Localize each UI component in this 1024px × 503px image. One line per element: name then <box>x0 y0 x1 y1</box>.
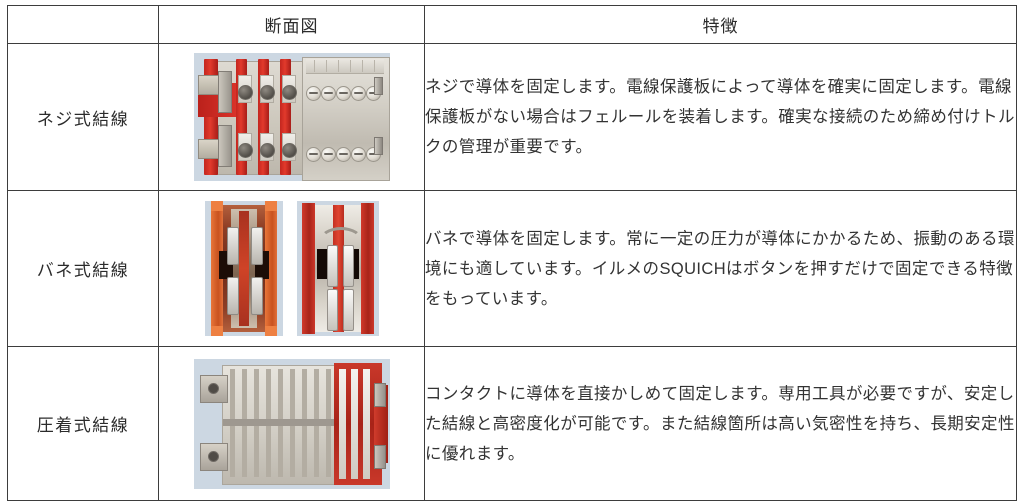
screw-head-shape <box>238 143 253 158</box>
crimp-contact-shape <box>363 369 370 479</box>
screw-head-shape <box>282 143 297 158</box>
header-cell-blank <box>8 6 159 44</box>
table-row: 圧着式結線 <box>8 347 1017 501</box>
orange-tab-shape <box>265 201 277 211</box>
connector-cap-shape <box>306 59 384 74</box>
mounting-bracket-shape <box>218 125 232 167</box>
side-rail-shape <box>374 445 386 469</box>
header-cell-features: 特徴 <box>425 6 1017 44</box>
screw-head-shape <box>351 86 366 101</box>
spring-clamp-shape <box>251 227 263 265</box>
spring-type-red-terminal-photo <box>297 201 379 336</box>
screw-head-shape <box>336 147 351 162</box>
row-image-cell-crimp <box>159 347 425 501</box>
spring-type-orange-terminal-photo <box>205 201 283 336</box>
spring-clamp-shape <box>327 245 338 287</box>
row-description-cell-screw: ネジで導体を固定します。電線保護板によって導体を確実に固定します。電線保護板がな… <box>425 44 1017 191</box>
orange-tab-shape <box>211 326 223 336</box>
cap-slot-shape <box>338 60 339 72</box>
mounting-stud-shape <box>374 137 383 155</box>
table-body: ネジ式結線 <box>8 44 1017 501</box>
mounting-stud-shape <box>374 77 383 95</box>
description-text: バネで導体を固定します。常に一定の圧力が導体にかかるため、振動のある環境にも適し… <box>425 224 1016 314</box>
screw-head-shape <box>260 143 275 158</box>
housing-split-line-shape <box>223 419 339 426</box>
red-center-bar-shape <box>239 211 249 326</box>
table-header: 断面図 特徴 <box>8 6 1017 44</box>
clip-hole-shape <box>208 451 219 462</box>
spring-clamp-shape <box>227 227 239 265</box>
side-rail-shape <box>374 383 386 407</box>
connector-block-shape <box>302 57 390 181</box>
cap-slot-shape <box>374 60 375 72</box>
description-text: コンタクトに導体を直接かしめて固定します。専用工具が必要ですが、安定した結線と高… <box>425 379 1016 469</box>
terminal-lug-shape <box>198 75 220 95</box>
red-housing-shape <box>302 203 315 334</box>
cap-slot-shape <box>326 60 327 72</box>
cap-slot-shape <box>314 60 315 72</box>
header-cell-cross-section: 断面図 <box>159 6 425 44</box>
crimp-contact-shape <box>339 369 346 479</box>
screw-head-shape <box>306 147 321 162</box>
spring-clamp-shape <box>343 245 354 287</box>
spring-clamp-shape <box>227 277 239 315</box>
screw-type-terminal-cross-section-photo <box>194 53 390 181</box>
header-row: 断面図 特徴 <box>8 6 1017 44</box>
row-description-cell-spring: バネで導体を固定します。常に一定の圧力が導体にかかるため、振動のある環境にも適し… <box>425 191 1017 347</box>
screw-head-shape <box>351 147 366 162</box>
description-text: ネジで導体を固定します。電線保護板によって導体を確実に固定します。電線保護板がな… <box>425 72 1016 162</box>
image-group <box>159 201 424 336</box>
orange-tab-shape <box>211 201 223 211</box>
screw-head-shape <box>260 85 275 100</box>
red-housing-shape <box>361 203 374 334</box>
row-label-spring: バネ式結線 <box>8 191 159 347</box>
wiring-method-comparison-table: 断面図 特徴 ネジ式結線 <box>7 5 1017 501</box>
image-group <box>159 53 424 181</box>
row-label-screw: ネジ式結線 <box>8 44 159 191</box>
spring-clamp-shape <box>343 289 354 331</box>
screw-head-shape <box>321 147 336 162</box>
screw-head-shape <box>321 86 336 101</box>
spring-clamp-shape <box>251 277 263 315</box>
table-row: ネジ式結線 <box>8 44 1017 191</box>
screw-head-shape <box>282 85 297 100</box>
cap-slot-shape <box>350 60 351 72</box>
mounting-bracket-shape <box>218 71 232 113</box>
crimp-type-terminal-cross-section-photo <box>194 359 390 489</box>
orange-tab-shape <box>265 326 277 336</box>
cap-slot-shape <box>362 60 363 72</box>
screw-head-shape <box>306 86 321 101</box>
comparison-sheet: 断面図 特徴 ネジ式結線 <box>0 0 1024 503</box>
crimp-contact-shape <box>351 369 358 479</box>
screw-head-shape <box>238 85 253 100</box>
terminal-lug-shape <box>198 139 220 159</box>
row-label-crimp: 圧着式結線 <box>8 347 159 501</box>
spring-arc-shape <box>319 227 363 255</box>
spring-clamp-shape <box>327 289 338 331</box>
screw-head-shape <box>336 86 351 101</box>
row-image-cell-screw <box>159 44 425 191</box>
table-row: バネ式結線 <box>8 191 1017 347</box>
row-image-cell-spring <box>159 191 425 347</box>
clip-hole-shape <box>208 383 219 394</box>
image-group <box>159 359 424 489</box>
row-description-cell-crimp: コンタクトに導体を直接かしめて固定します。専用工具が必要ですが、安定した結線と高… <box>425 347 1017 501</box>
